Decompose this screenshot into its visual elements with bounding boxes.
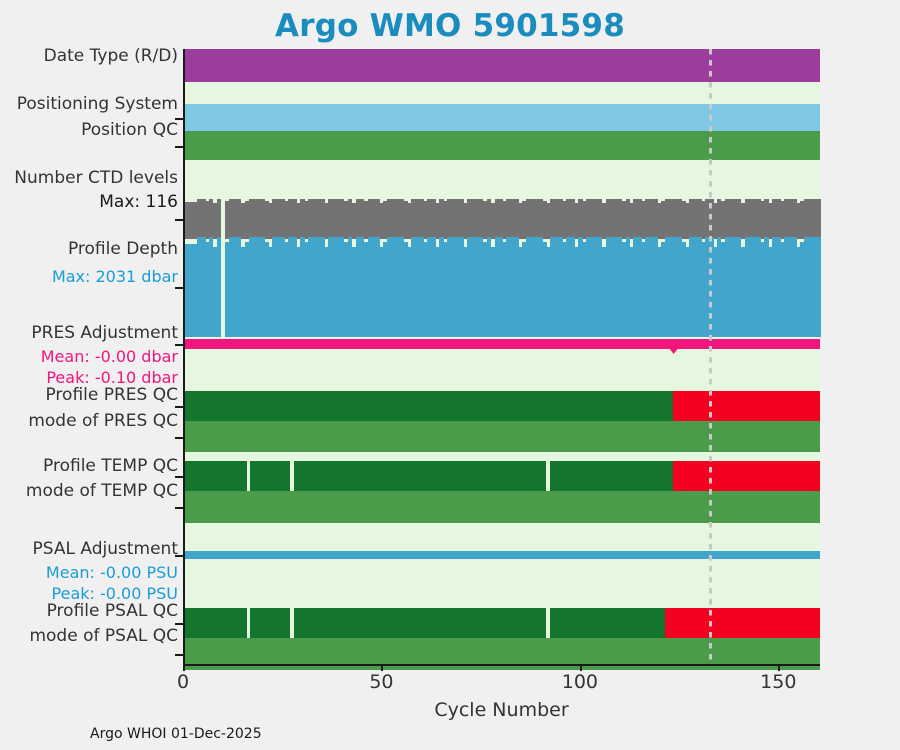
y-label-number-ctd-levels-sub1: Max: 116 (99, 192, 178, 213)
y-label-mode-of-temp-qc: mode of TEMP QC (26, 481, 178, 502)
y-tick-profile-pres-qc (175, 406, 183, 408)
x-tick-mark-150 (778, 664, 780, 671)
vertical-bar-set (185, 199, 820, 239)
band-date-type (185, 49, 820, 82)
y-label-pres-adjustment: PRES Adjustment (31, 323, 178, 344)
y-label-pres-adjustment-sub1: Mean: -0.00 dbar (41, 346, 178, 367)
qc-segment-good (185, 391, 673, 421)
band-number-ctd-levels (185, 199, 820, 239)
qc-segment-good (250, 608, 290, 638)
y-tick-mode-of-temp-qc (175, 507, 183, 509)
x-tick-mark-50 (381, 664, 383, 671)
x-axis-line (183, 664, 820, 666)
qc-segment-good (185, 421, 820, 452)
qc-segment-good (294, 461, 546, 491)
y-tick-mode-of-psal-qc (175, 654, 183, 656)
y-label-psal-adjustment-sub1: Mean: -0.00 PSU (46, 562, 178, 583)
adjustment-line (185, 551, 820, 559)
qc-segment-bad (673, 461, 820, 491)
y-label-mode-of-pres-qc: mode of PRES QC (28, 411, 178, 432)
x-axis-title: Cycle Number (183, 699, 820, 721)
qc-segment-good (550, 608, 665, 638)
y-tick-profile-psal-qc (175, 623, 183, 625)
x-tick-label-50: 50 (369, 671, 393, 693)
adjustment-dip-marker (668, 347, 679, 354)
data-bar (217, 237, 222, 337)
y-label-profile-psal-qc: Profile PSAL QC (47, 601, 178, 622)
band-pres-adjustment (185, 339, 820, 349)
qc-segment-good (294, 608, 546, 638)
y-tick-psal-adjustment (175, 555, 183, 557)
band-mode-of-temp-qc (185, 491, 820, 523)
x-tick-label-150: 150 (760, 671, 796, 693)
band-positioning-system (185, 104, 820, 131)
band-position-qc (185, 131, 820, 160)
vertical-bar-set (185, 237, 820, 337)
y-label-profile-temp-qc: Profile TEMP QC (43, 456, 178, 477)
data-bar (816, 237, 821, 337)
y-tick-position-qc (175, 146, 183, 148)
y-label-number-ctd-levels: Number CTD levels (14, 168, 178, 189)
band-profile-psal-qc (185, 608, 820, 638)
band-profile-temp-qc (185, 461, 820, 491)
y-label-date-type: Date Type (R/D) (44, 46, 178, 67)
cycle-guide-line (709, 49, 712, 664)
y-tick-positioning-system (175, 118, 183, 120)
qc-segment-good (185, 491, 820, 523)
y-label-profile-depth-sub1: Max: 2031 dbar (52, 266, 178, 287)
y-tick-pres-adjustment (175, 344, 183, 346)
x-tick-label-0: 0 (177, 671, 189, 693)
y-label-position-qc: Position QC (81, 120, 178, 141)
band-profile-pres-qc (185, 391, 820, 421)
y-tick-profile-temp-qc (175, 476, 183, 478)
qc-segment-good (250, 461, 290, 491)
y-label-positioning-system: Positioning System (17, 94, 178, 115)
footer-attribution: Argo WHOI 01-Dec-2025 (90, 726, 262, 742)
x-tick-mark-100 (580, 664, 582, 671)
y-label-psal-adjustment: PSAL Adjustment (33, 539, 178, 560)
y-label-profile-pres-qc: Profile PRES QC (45, 385, 178, 406)
data-bar (217, 199, 222, 239)
page-title: Argo WMO 5901598 (0, 8, 900, 44)
x-tick-label-100: 100 (562, 671, 598, 693)
argo-float-summary-figure: Argo WMO 5901598 Date Type (R/D)Position… (0, 0, 900, 750)
y-tick-number-ctd-levels (175, 219, 183, 221)
y-tick-profile-depth (175, 287, 183, 289)
y-label-profile-depth: Profile Depth (68, 239, 178, 260)
adjustment-line (185, 339, 820, 349)
x-tick-mark-0 (183, 664, 185, 671)
band-mode-of-pres-qc (185, 421, 820, 452)
qc-segment-good (550, 461, 673, 491)
qc-segment-good (185, 608, 247, 638)
qc-segment-good (185, 461, 247, 491)
band-psal-adjustment (185, 551, 820, 559)
data-bar (816, 199, 821, 239)
y-label-mode-of-psal-qc: mode of PSAL QC (29, 626, 178, 647)
qc-segment-bad (665, 608, 820, 638)
band-profile-depth (185, 237, 820, 337)
y-tick-mode-of-pres-qc (175, 437, 183, 439)
qc-segment-bad (673, 391, 820, 421)
plot-area (183, 49, 820, 664)
